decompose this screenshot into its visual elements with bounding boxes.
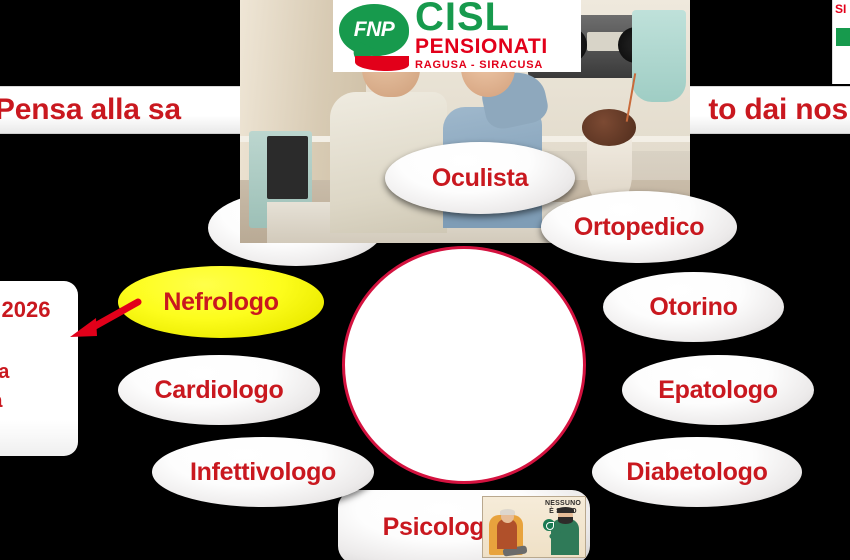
slide-canvas: 'Pensa alla sa to dai nos FNP CISL PENSI… [0,0,850,560]
specialist-oval-epatologo[interactable]: Epatologo [622,355,814,425]
note-line-2: ssa [0,361,70,384]
fnp-logo-mark: FNP [337,4,411,68]
illustration-caption: NESSUNO È SOLO [545,500,581,516]
illustration-elder-body [497,519,517,549]
photo-chair-dark [267,136,308,199]
illustration-caption-line1: NESSUNO [545,500,581,508]
specialist-oval-infettivologo[interactable]: Infettivologo [152,437,374,507]
illustration-caption-line2: È SOLO [545,508,581,516]
specialist-label: Ortopedico [574,213,704,242]
specialist-oval-ortopedico[interactable]: Ortopedico [541,191,737,263]
center-hub-circle[interactable] [342,246,586,484]
specialist-oval-nefrologo[interactable]: Nefrologo [118,266,324,338]
specialist-label: Oculista [432,164,528,193]
specialist-label: Otorino [649,293,737,322]
specialist-oval-oculista[interactable]: Oculista [385,142,575,214]
logo-province-line: RAGUSA - SIRACUSA [415,58,548,73]
fnp-cisl-logo: FNP CISL PENSIONATI RAGUSA - SIRACUSA [333,0,581,72]
specialist-oval-otorino[interactable]: Otorino [603,272,784,342]
corner-card-label: SI [833,0,850,16]
nessuno-e-solo-illustration: NESSUNO È SOLO [482,496,586,558]
headline-text-left: 'Pensa alla sa [0,93,181,127]
phone-icon [543,519,555,531]
illustration-volunteer-beard [558,517,573,524]
red-arrow-left-icon [64,296,142,342]
specialist-oval-diabetologo[interactable]: Diabetologo [592,437,802,507]
illustration-elder-hair [500,509,515,515]
logo-cisl-title: CISL [415,0,548,36]
logo-pensionati-subtitle: PENSIONATI [415,36,548,58]
photo-mint-object [632,10,686,102]
corner-card-green-box [836,28,850,46]
specialist-label: Diabetologo [626,458,767,487]
specialist-label: Nefrologo [163,288,278,317]
note-line-3: ria [0,390,70,413]
specialist-label: Cardiologo [155,376,284,405]
logo-wordmark: CISL PENSIONATI RAGUSA - SIRACUSA [415,0,548,73]
fnp-red-swoosh [355,56,409,71]
specialist-oval-cardiologo[interactable]: Cardiologo [118,355,320,425]
fnp-acronym: FNP [337,18,411,42]
note-line-1: o 2026 [0,297,70,323]
specialist-label: Epatologo [658,376,778,405]
headline-text-right: to dai nos [708,93,848,127]
specialist-label: Infettivologo [190,458,336,487]
corner-card-partial: SI [832,0,850,84]
